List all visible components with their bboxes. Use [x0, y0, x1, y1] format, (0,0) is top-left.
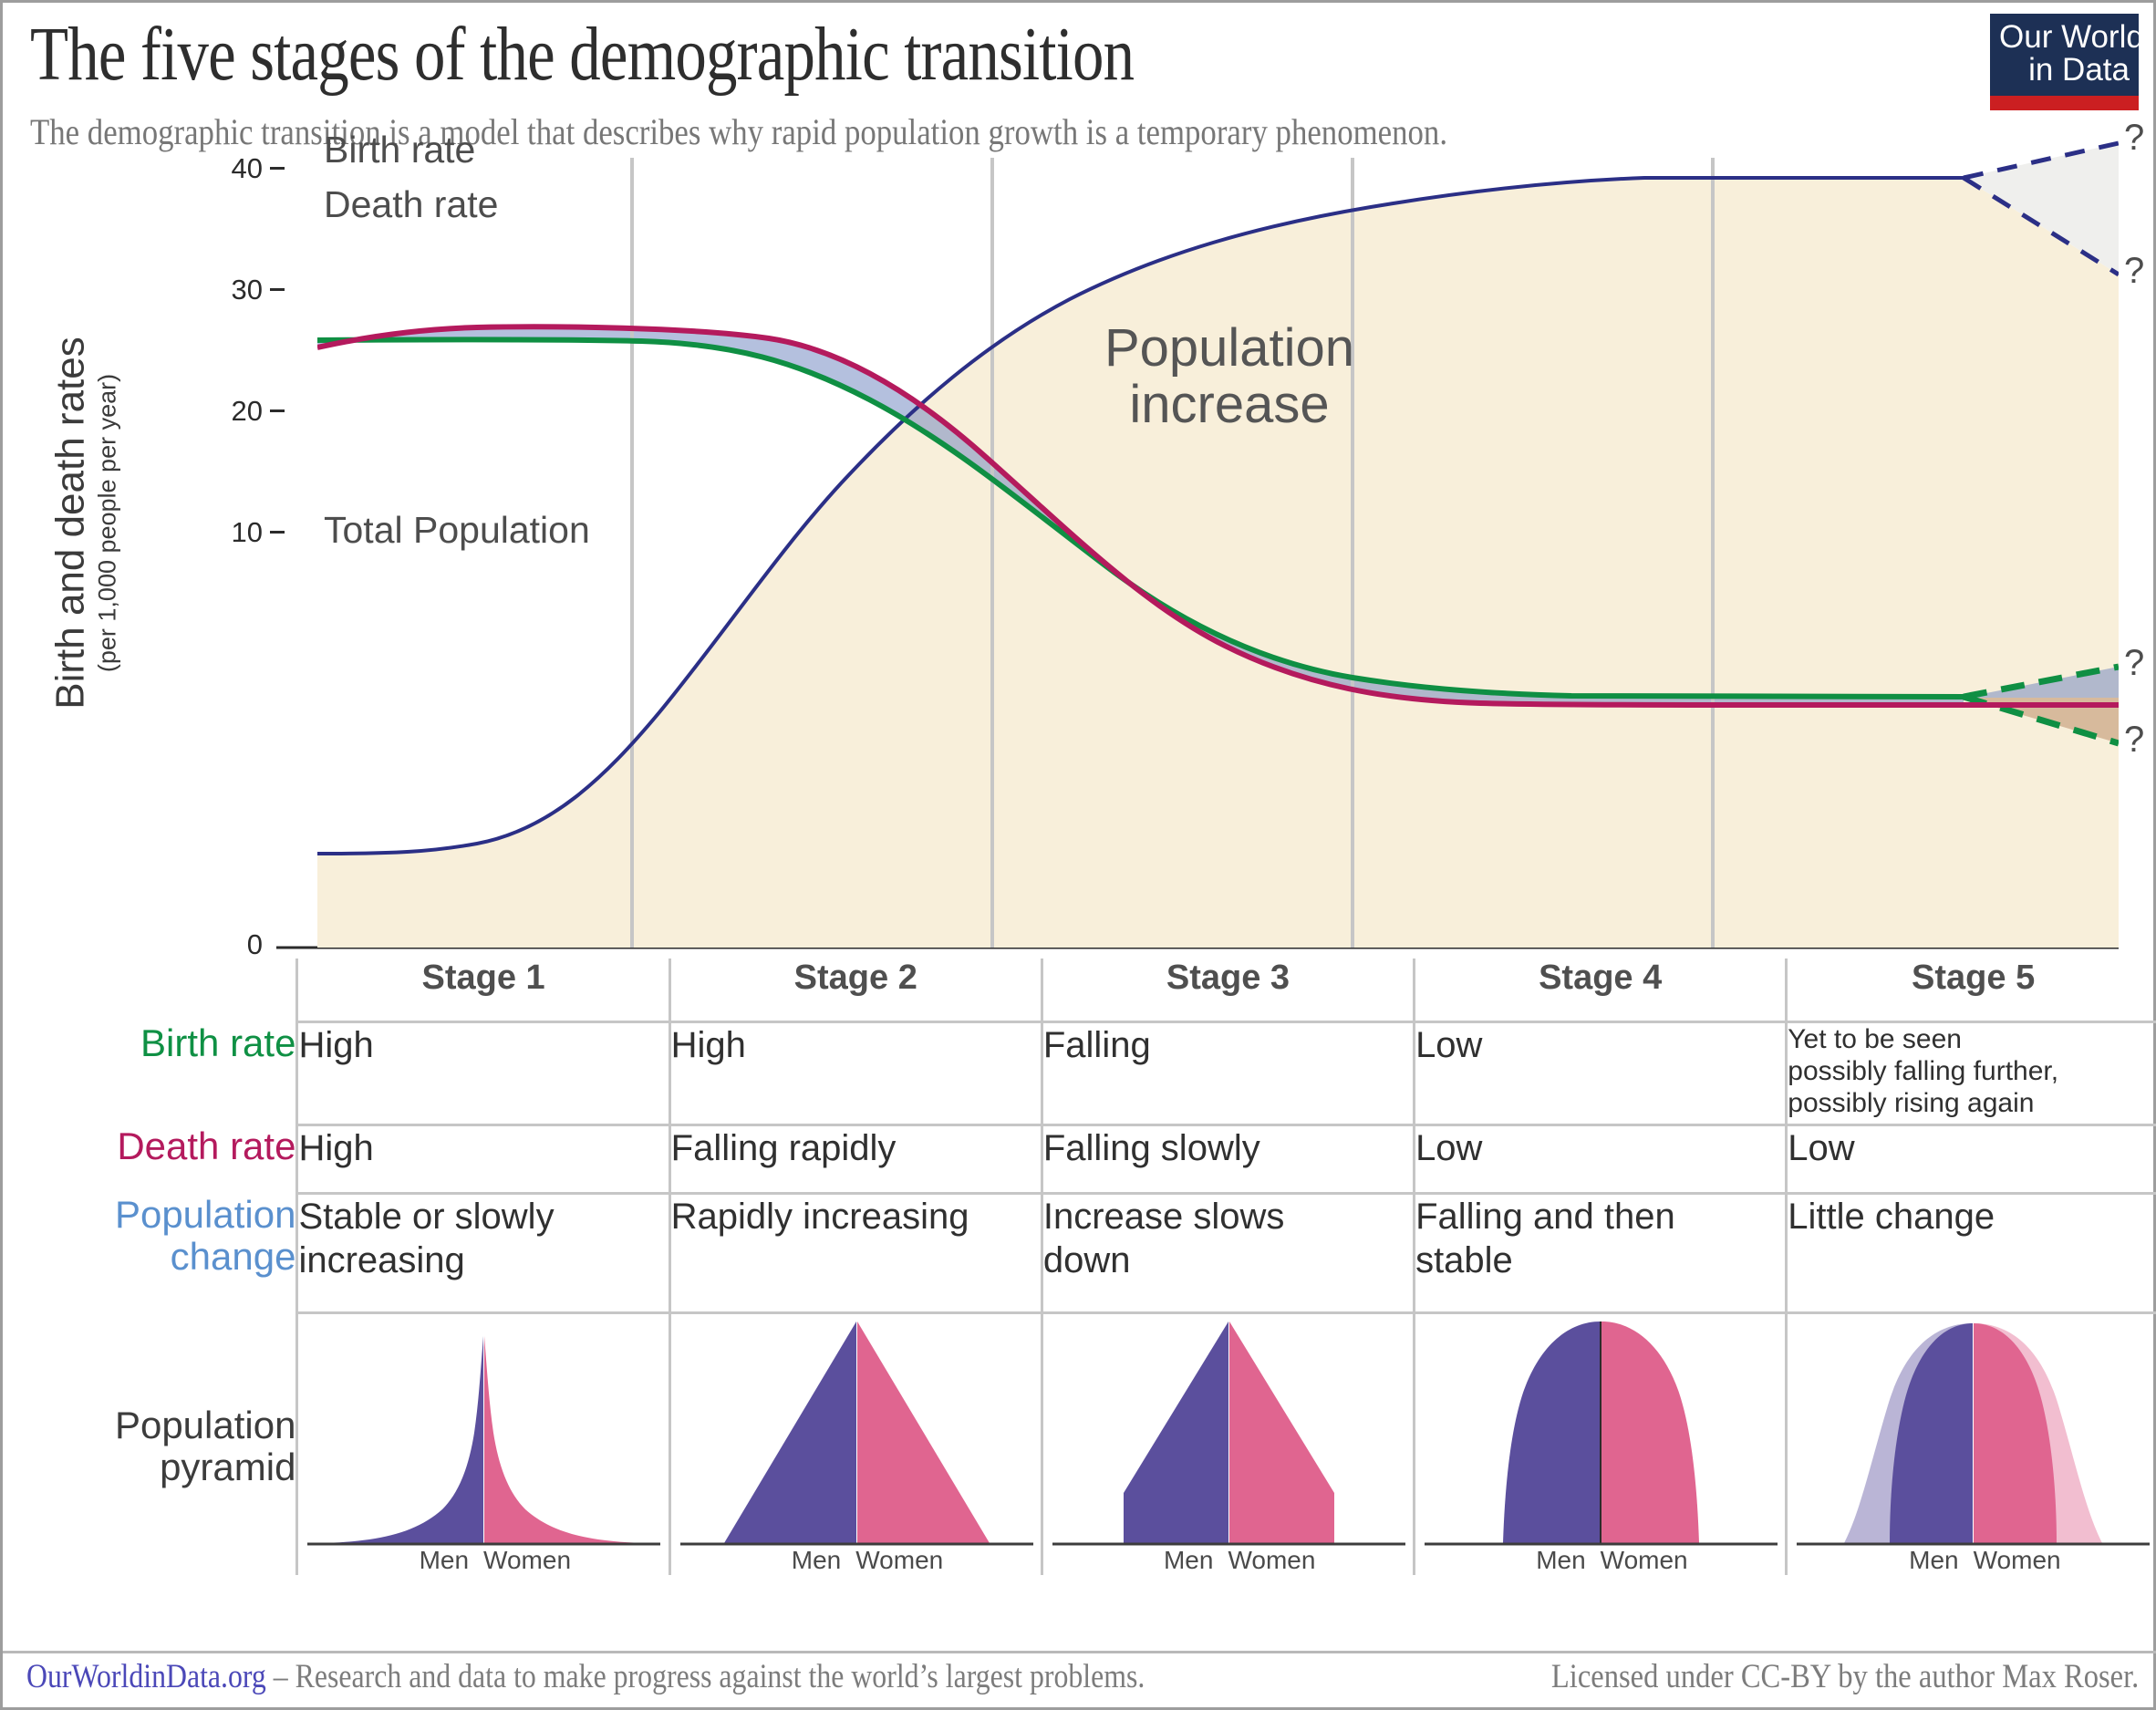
pyramid-women-stage1 — [484, 1336, 653, 1543]
pyramid-men-stage3 — [1124, 1321, 1228, 1543]
pyramid-men-stage4 — [1503, 1321, 1601, 1543]
population-increase-annotation: Population increase — [1056, 320, 1403, 433]
pyramid-cell-stage2: MenWomen — [669, 1313, 1042, 1576]
pyramid-stage5 — [1788, 1314, 2156, 1551]
header-spacer — [3, 959, 297, 1022]
total-population-series-label: Total Population — [324, 509, 590, 552]
table-row-death-rate: Death rate High Falling rapidly Falling … — [3, 1125, 2156, 1194]
cell-death-stage3: Falling slowly — [1042, 1125, 1414, 1194]
pyramid-cell-stage3: MenWomen — [1042, 1313, 1414, 1576]
stage-header-3: Stage 3 — [1042, 959, 1414, 1022]
pyramid-women-stage4 — [1601, 1321, 1699, 1543]
row-label-population-change: Population change — [3, 1194, 297, 1313]
infographic-frame: The five stages of the demographic trans… — [0, 0, 2156, 1710]
pyramid-cell-stage4: MenWomen — [1415, 1313, 1787, 1576]
footer-left: OurWorldinData.org – Research and data t… — [26, 1657, 1145, 1696]
page-title: The five stages of the demographic trans… — [30, 10, 1549, 98]
cell-popchange-stage1: Stable or slowly increasing — [297, 1194, 669, 1313]
pyramid-stage1 — [298, 1314, 668, 1551]
cell-birth-stage2: High — [669, 1022, 1042, 1125]
row-label-death-rate: Death rate — [3, 1125, 297, 1194]
cell-birth-stage3: Falling — [1042, 1022, 1414, 1125]
stage-header-5: Stage 5 — [1787, 959, 2156, 1022]
cell-popchange-stage4: Falling and then stable — [1415, 1194, 1787, 1313]
cell-popchange-stage2: Rapidly increasing — [669, 1194, 1042, 1313]
footer-license: Licensed under CC-BY by the author Max R… — [1551, 1657, 2139, 1696]
row-label-birth-rate: Birth rate — [3, 1022, 297, 1125]
logo-red-bar — [1990, 96, 2139, 110]
question-mark-population-low: ? — [2124, 251, 2144, 292]
logo-box: Our World in Data — [1990, 14, 2139, 96]
demographic-transition-chart: Birth and death rates (per 1,000 people … — [3, 140, 2156, 960]
pyramid-svg-stage2 — [671, 1314, 1042, 1551]
stage-header-2: Stage 2 — [669, 959, 1042, 1022]
death-rate-series-label: Death rate — [324, 183, 498, 226]
cell-birth-stage5: Yet to be seen possibly falling further,… — [1787, 1022, 2156, 1125]
pyramid-women-stage3 — [1229, 1321, 1334, 1543]
row-label-population-pyramid: Population pyramid — [3, 1313, 297, 1576]
footer-url-link[interactable]: OurWorldinData.org — [26, 1658, 266, 1695]
cell-death-stage5: Low — [1787, 1125, 2156, 1194]
our-world-in-data-logo[interactable]: Our World in Data — [1990, 14, 2139, 110]
logo-line-1: Our World — [1999, 21, 2130, 54]
footer: OurWorldinData.org – Research and data t… — [3, 1651, 2156, 1707]
table-row-population-pyramid: Population pyramid MenWomen — [3, 1313, 2156, 1576]
question-mark-birth-high: ? — [2124, 643, 2144, 684]
table-row-population-change: Population change Stable or slowly incre… — [3, 1194, 2156, 1313]
cell-death-stage4: Low — [1415, 1125, 1787, 1194]
cell-popchange-stage3: Increase slows down — [1042, 1194, 1414, 1313]
total-population-projection-area — [1964, 178, 2119, 948]
table-row-birth-rate: Birth rate High High Falling Low Yet to … — [3, 1022, 2156, 1125]
stage-header-1: Stage 1 — [297, 959, 669, 1022]
question-mark-population-high: ? — [2124, 118, 2144, 159]
logo-line-2: in Data — [1999, 54, 2130, 87]
pyramid-stage4 — [1415, 1314, 1785, 1551]
pyramid-women-stage5 — [1974, 1323, 2057, 1543]
stage-header-4: Stage 4 — [1415, 959, 1787, 1022]
pyramid-cell-stage1: MenWomen — [297, 1313, 669, 1576]
stages-comparison-table: Stage 1 Stage 2 Stage 3 Stage 4 Stage 5 … — [3, 959, 2156, 1575]
cell-death-stage2: Falling rapidly — [669, 1125, 1042, 1194]
pyramid-cell-stage5: MenWomen — [1787, 1313, 2156, 1576]
pyramid-svg-stage5 — [1788, 1314, 2156, 1551]
pyramid-men-stage5 — [1890, 1323, 1973, 1543]
cell-popchange-stage5: Little change — [1787, 1194, 2156, 1313]
pyramid-men-stage1 — [315, 1336, 483, 1543]
pyramid-women-stage2 — [857, 1321, 990, 1543]
cell-birth-stage4: Low — [1415, 1022, 1787, 1125]
pyramid-stage2 — [671, 1314, 1041, 1551]
pyramid-svg-stage3 — [1043, 1314, 1415, 1551]
pyramid-stage3 — [1043, 1314, 1413, 1551]
pyramid-men-stage2 — [724, 1321, 856, 1543]
question-mark-birth-low: ? — [2124, 720, 2144, 761]
footer-tagline: – Research and data to make progress aga… — [266, 1658, 1145, 1695]
cell-birth-stage1: High — [297, 1022, 669, 1125]
pyramid-svg-stage4 — [1415, 1314, 1787, 1551]
table-header-row: Stage 1 Stage 2 Stage 3 Stage 4 Stage 5 — [3, 959, 2156, 1022]
cell-death-stage1: High — [297, 1125, 669, 1194]
pyramid-svg-stage1 — [298, 1314, 669, 1551]
total-population-area — [317, 178, 1964, 948]
birth-rate-series-label: Birth rate — [324, 129, 475, 171]
